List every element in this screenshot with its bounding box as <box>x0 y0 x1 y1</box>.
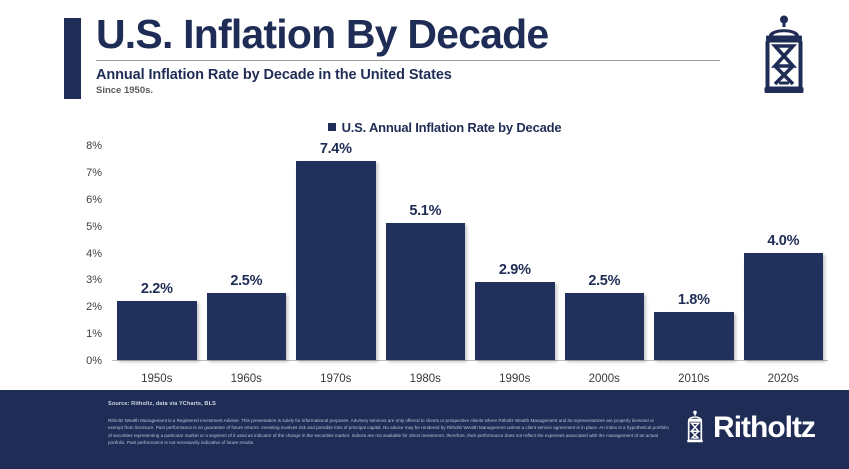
bar-column: 2.2% <box>112 145 202 360</box>
bar-column: 2.9% <box>470 145 560 360</box>
footer: Source: Ritholtz, data via YCharts, BLS … <box>0 390 849 469</box>
bar <box>744 253 824 361</box>
page-title: U.S. Inflation By Decade <box>96 12 726 56</box>
brand-name: Ritholtz <box>713 411 815 445</box>
bar-value-label: 2.5% <box>560 273 650 289</box>
y-axis-tick: 8% <box>86 140 102 152</box>
y-axis-tick: 6% <box>86 194 102 206</box>
plot-area: 8% 7% 6% 5% 4% 3% 2% 1% 0% 2.2%2.5%7.4%5… <box>64 146 834 390</box>
bar-column: 7.4% <box>291 145 381 360</box>
title-divider <box>96 60 720 61</box>
lantern-icon <box>684 410 706 445</box>
y-axis-tick: 2% <box>86 301 102 313</box>
chart-legend: U.S. Annual Inflation Rate by Decade <box>0 118 849 136</box>
bar-value-label: 7.4% <box>291 141 381 157</box>
bar <box>565 293 645 360</box>
y-axis-tick: 1% <box>86 328 102 340</box>
bar <box>117 301 197 360</box>
x-axis-tick: 1970s <box>291 362 381 390</box>
bar <box>654 312 734 360</box>
bar-value-label: 4.0% <box>739 233 829 249</box>
x-axis-tick: 2010s <box>649 362 739 390</box>
bar-value-label: 1.8% <box>649 292 739 308</box>
bar-column: 2.5% <box>202 145 292 360</box>
disclaimer-text: Ritholtz Wealth Management is a Register… <box>108 417 670 447</box>
chart: U.S. Annual Inflation Rate by Decade 8% … <box>0 118 849 390</box>
bar-column: 4.0% <box>739 145 829 360</box>
legend-swatch-icon <box>328 123 336 131</box>
bar <box>296 161 376 360</box>
title-block: U.S. Inflation By Decade Annual Inflatio… <box>96 12 726 96</box>
y-axis: 8% 7% 6% 5% 4% 3% 2% 1% 0% <box>64 146 102 361</box>
lantern-icon <box>755 14 813 100</box>
x-axis-tick: 1960s <box>202 362 292 390</box>
bar-value-label: 2.2% <box>112 281 202 297</box>
y-axis-tick: 5% <box>86 221 102 233</box>
header: U.S. Inflation By Decade Annual Inflatio… <box>0 0 849 118</box>
legend-label: U.S. Annual Inflation Rate by Decade <box>342 120 562 135</box>
source-note: Source: Ritholtz, data via YCharts, BLS <box>108 401 216 407</box>
bar-column: 1.8% <box>649 145 739 360</box>
x-axis-tick: 1990s <box>470 362 560 390</box>
bars-plot: 2.2%2.5%7.4%5.1%2.9%2.5%1.8%4.0% <box>112 146 828 361</box>
x-axis-tick: 2000s <box>560 362 650 390</box>
y-axis-tick: 3% <box>86 274 102 286</box>
bar <box>475 282 555 360</box>
bar-value-label: 5.1% <box>381 203 471 219</box>
x-axis: 1950s1960s1970s1980s1990s2000s2010s2020s <box>112 362 828 390</box>
x-axis-tick: 2020s <box>739 362 829 390</box>
bar-value-label: 2.9% <box>470 262 560 278</box>
x-axis-tick: 1980s <box>381 362 471 390</box>
x-axis-tick: 1950s <box>112 362 202 390</box>
bar <box>207 293 287 360</box>
bar-column: 5.1% <box>381 145 471 360</box>
bar <box>386 223 466 360</box>
page-subtitle: Annual Inflation Rate by Decade in the U… <box>96 67 726 83</box>
y-axis-tick: 4% <box>86 248 102 260</box>
title-accent-bar <box>64 18 81 99</box>
footer-brand: Ritholtz <box>684 410 815 445</box>
y-axis-tick: 7% <box>86 167 102 179</box>
page-since-note: Since 1950s. <box>96 85 726 96</box>
bar-value-label: 2.5% <box>202 273 292 289</box>
bar-series: 2.2%2.5%7.4%5.1%2.9%2.5%1.8%4.0% <box>112 145 828 360</box>
bar-column: 2.5% <box>560 145 650 360</box>
y-axis-tick: 0% <box>86 355 102 367</box>
